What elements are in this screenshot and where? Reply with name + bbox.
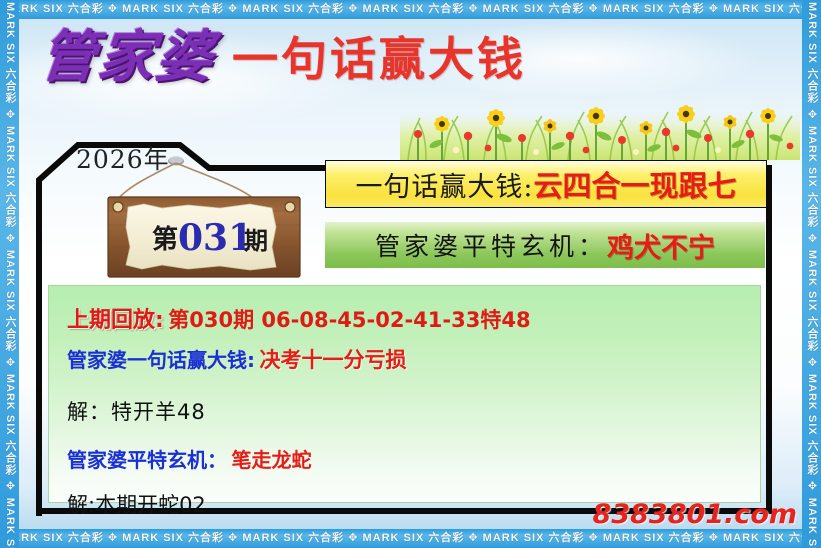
green-banner: 管家婆平特玄机： 鸡犬不宁 [325,222,765,268]
slogan-title: 一句话赢大钱 [232,36,526,86]
phrase-answer-text: 解：特开羊48 [67,400,206,424]
border-top: MARK SIX 六合彩 ✥ MARK SIX 六合彩 ✥ MARK SIX 六… [0,0,821,19]
border-right-text: MARK SIX 六合彩 ✥ MARK SIX 六合彩 ✥ MARK SIX 六… [802,0,821,548]
issue-prefix-text: 第 [152,224,178,255]
border-left-text: MARK SIX 六合彩 ✥ MARK SIX 六合彩 ✥ MARK SIX 六… [0,0,19,548]
yellow-banner-label: 一句话赢大钱: [355,165,533,204]
phrase-value: 决考十一分亏损 [259,348,406,372]
replay-label: 上期回放: [67,308,164,333]
border-right: MARK SIX 六合彩 ✥ MARK SIX 六合彩 ✥ MARK SIX 六… [802,0,821,548]
issue-suffix-text: 期 [244,226,268,255]
riddle-answer-text: 解:本期开蛇02 [67,493,206,517]
border-left: MARK SIX 六合彩 ✥ MARK SIX 六合彩 ✥ MARK SIX 六… [0,0,19,548]
site-watermark: 8383801.com [593,499,797,530]
yellow-banner-value: 云四合一现跟七 [534,163,737,205]
border-top-text: MARK SIX 六合彩 ✥ MARK SIX 六合彩 ✥ MARK SIX 六… [0,0,821,19]
riddle-value: 笔走龙蛇 [231,448,311,472]
green-banner-label: 管家婆平特玄机： [375,227,607,263]
phrase-row: 管家婆一句话赢大钱: 决考十一分亏损 [49,344,760,374]
content-panel: 上期回放: 第030期 06-08-45-02-41-33特48 管家婆一句话赢… [48,285,761,503]
riddle-row: 管家婆平特玄机： 笔走龙蛇 [49,444,760,473]
border-bottom: MARK SIX 六合彩 ✥ MARK SIX 六合彩 ✥ MARK SIX 六… [0,529,821,548]
issue-number-text: 031 [178,217,253,259]
replay-row: 上期回放: 第030期 06-08-45-02-41-33特48 [49,302,760,334]
green-banner-value: 鸡犬不宁 [607,226,715,265]
phrase-label: 管家婆一句话赢大钱: [67,348,255,372]
riddle-label: 管家婆平特玄机： [67,448,227,472]
poster-root: 管家婆 一句话赢大钱 2026年 [0,0,821,548]
yellow-banner: 一句话赢大钱: 云四合一现跟七 [325,160,767,208]
poster-title: 管家婆 一句话赢大钱 [40,30,526,86]
phrase-answer-row: 解：特开羊48 [49,396,760,426]
brand-title: 管家婆 [37,30,217,86]
border-bottom-text: MARK SIX 六合彩 ✥ MARK SIX 六合彩 ✥ MARK SIX 六… [0,529,821,548]
replay-value: 第030期 06-08-45-02-41-33特48 [168,308,530,332]
issue-plaque: 第 031 期 [100,155,316,285]
